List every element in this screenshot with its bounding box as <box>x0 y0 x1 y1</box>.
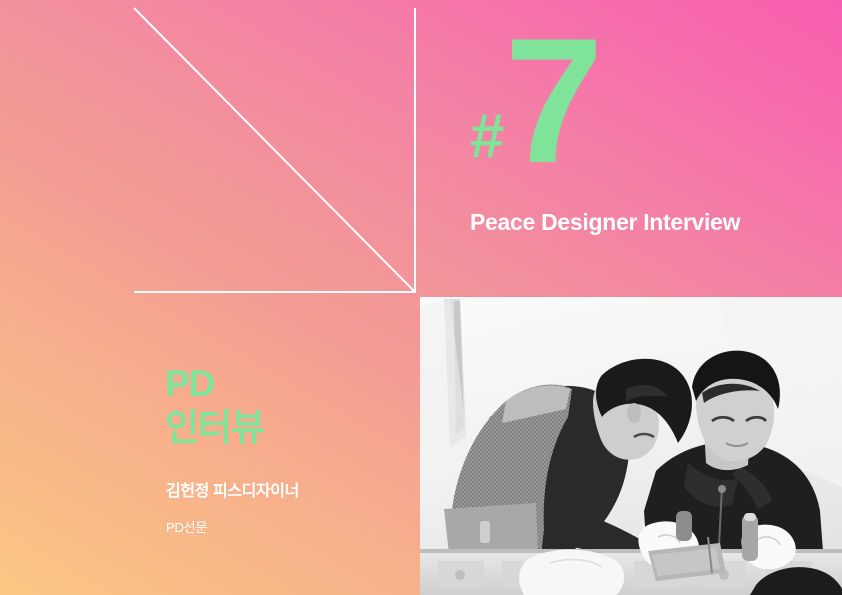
hash-symbol: # <box>470 106 502 168</box>
organization-label: PD선문 <box>166 517 207 536</box>
triangle-outline-decoration <box>0 0 842 310</box>
korean-title-line-1: PD <box>165 362 264 406</box>
photo-illustration <box>420 297 842 595</box>
interview-cover-slide: # 7 Peace Designer Interview PD 인터뷰 김헌정 … <box>0 0 842 595</box>
interviewee-name-role: 김헌정 피스디자이너 <box>166 477 299 501</box>
interview-photo <box>420 297 842 595</box>
korean-title-line-2: 인터뷰 <box>165 406 264 450</box>
korean-title: PD 인터뷰 <box>165 362 264 449</box>
hypotenuse-line <box>134 8 415 292</box>
issue-number-block: # 7 <box>470 28 601 174</box>
subtitle-english: Peace Designer Interview <box>470 209 740 236</box>
issue-number: 7 <box>504 28 601 174</box>
